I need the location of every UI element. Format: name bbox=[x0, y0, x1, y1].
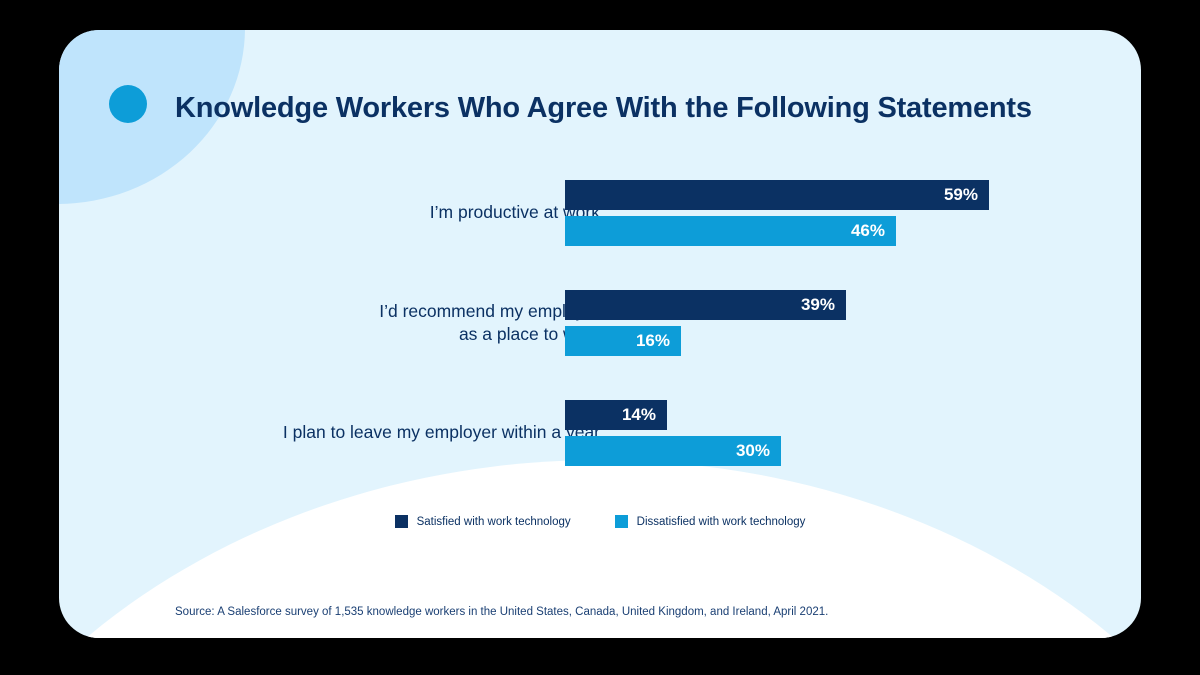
bar-dissatisfied[interactable]: 30% bbox=[565, 436, 781, 466]
bar-pair: 14% 30% bbox=[565, 400, 1125, 466]
chart-group: I’m productive at work 59% 46% bbox=[59, 180, 1141, 246]
page-title: Knowledge Workers Who Agree With the Fol… bbox=[175, 92, 1032, 125]
legend-item-satisfied[interactable]: Satisfied with work technology bbox=[395, 515, 571, 528]
bar-dissatisfied[interactable]: 16% bbox=[565, 326, 681, 356]
bar-value-label: 46% bbox=[851, 221, 896, 241]
legend-label: Dissatisfied with work technology bbox=[637, 516, 806, 528]
bar-value-label: 16% bbox=[636, 331, 681, 351]
bar-satisfied[interactable]: 39% bbox=[565, 290, 846, 320]
bar-satisfied[interactable]: 14% bbox=[565, 400, 667, 430]
screenshot-stage: Knowledge Workers Who Agree With the Fol… bbox=[0, 0, 1200, 675]
bar-value-label: 30% bbox=[736, 441, 781, 461]
bar-chart: I’m productive at work 59% 46% I’d recom… bbox=[59, 180, 1141, 510]
category-label: I’d recommend my employer as a place to … bbox=[170, 290, 600, 356]
legend-item-dissatisfied[interactable]: Dissatisfied with work technology bbox=[615, 515, 806, 528]
legend-swatch-icon bbox=[615, 515, 628, 528]
circle-dot-decoration-icon bbox=[109, 85, 147, 123]
bar-value-label: 14% bbox=[622, 405, 667, 425]
bar-value-label: 39% bbox=[801, 295, 846, 315]
category-label-line1: I plan to leave my employer within a yea… bbox=[283, 421, 600, 444]
chart-legend: Satisfied with work technology Dissatisf… bbox=[59, 515, 1141, 528]
category-label: I plan to leave my employer within a yea… bbox=[170, 400, 600, 466]
legend-swatch-icon bbox=[395, 515, 408, 528]
category-label: I’m productive at work bbox=[170, 180, 600, 246]
bar-value-label: 59% bbox=[944, 185, 989, 205]
bar-pair: 39% 16% bbox=[565, 290, 1125, 356]
source-note: Source: A Salesforce survey of 1,535 kno… bbox=[175, 606, 828, 618]
bar-satisfied[interactable]: 59% bbox=[565, 180, 989, 210]
bar-pair: 59% 46% bbox=[565, 180, 1125, 246]
chart-group: I plan to leave my employer within a yea… bbox=[59, 400, 1141, 466]
legend-label: Satisfied with work technology bbox=[417, 516, 571, 528]
chart-card: Knowledge Workers Who Agree With the Fol… bbox=[59, 30, 1141, 638]
bar-dissatisfied[interactable]: 46% bbox=[565, 216, 896, 246]
chart-group: I’d recommend my employer as a place to … bbox=[59, 290, 1141, 356]
